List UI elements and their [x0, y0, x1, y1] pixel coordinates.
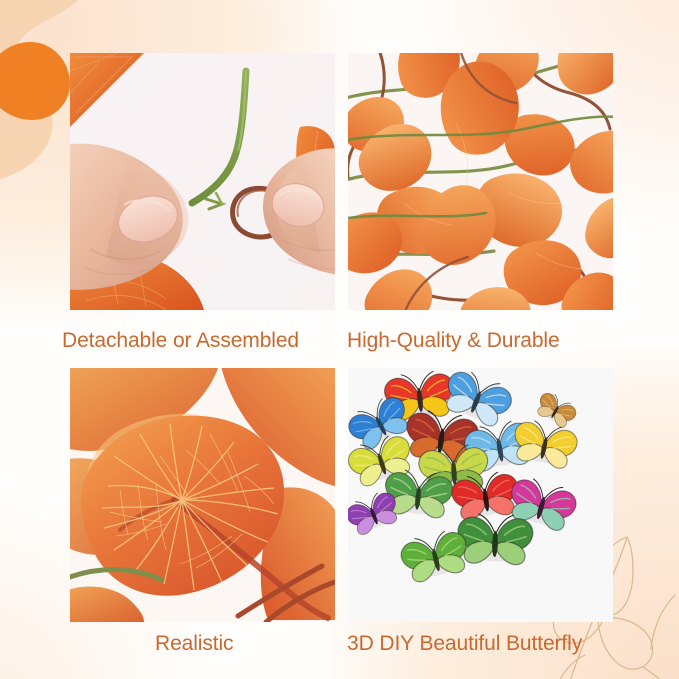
photo-3d-diy-butterfly: [348, 368, 613, 622]
photo-detachable-or-assembled: [70, 53, 335, 310]
caption-3d-diy-beautiful-butterfly: 3D DIY Beautiful Butterfly: [347, 629, 582, 659]
caption-high-quality-and-durable: High-Quality & Durable: [347, 326, 560, 356]
photo-realistic: [70, 368, 335, 622]
caption-realistic: Realistic: [155, 629, 233, 659]
caption-detachable-or-assembled: Detachable or Assembled: [62, 326, 299, 356]
photo-high-quality-and-durable: [348, 53, 613, 310]
infographic-canvas: Detachable or Assembled High-Quality & D…: [0, 0, 679, 679]
